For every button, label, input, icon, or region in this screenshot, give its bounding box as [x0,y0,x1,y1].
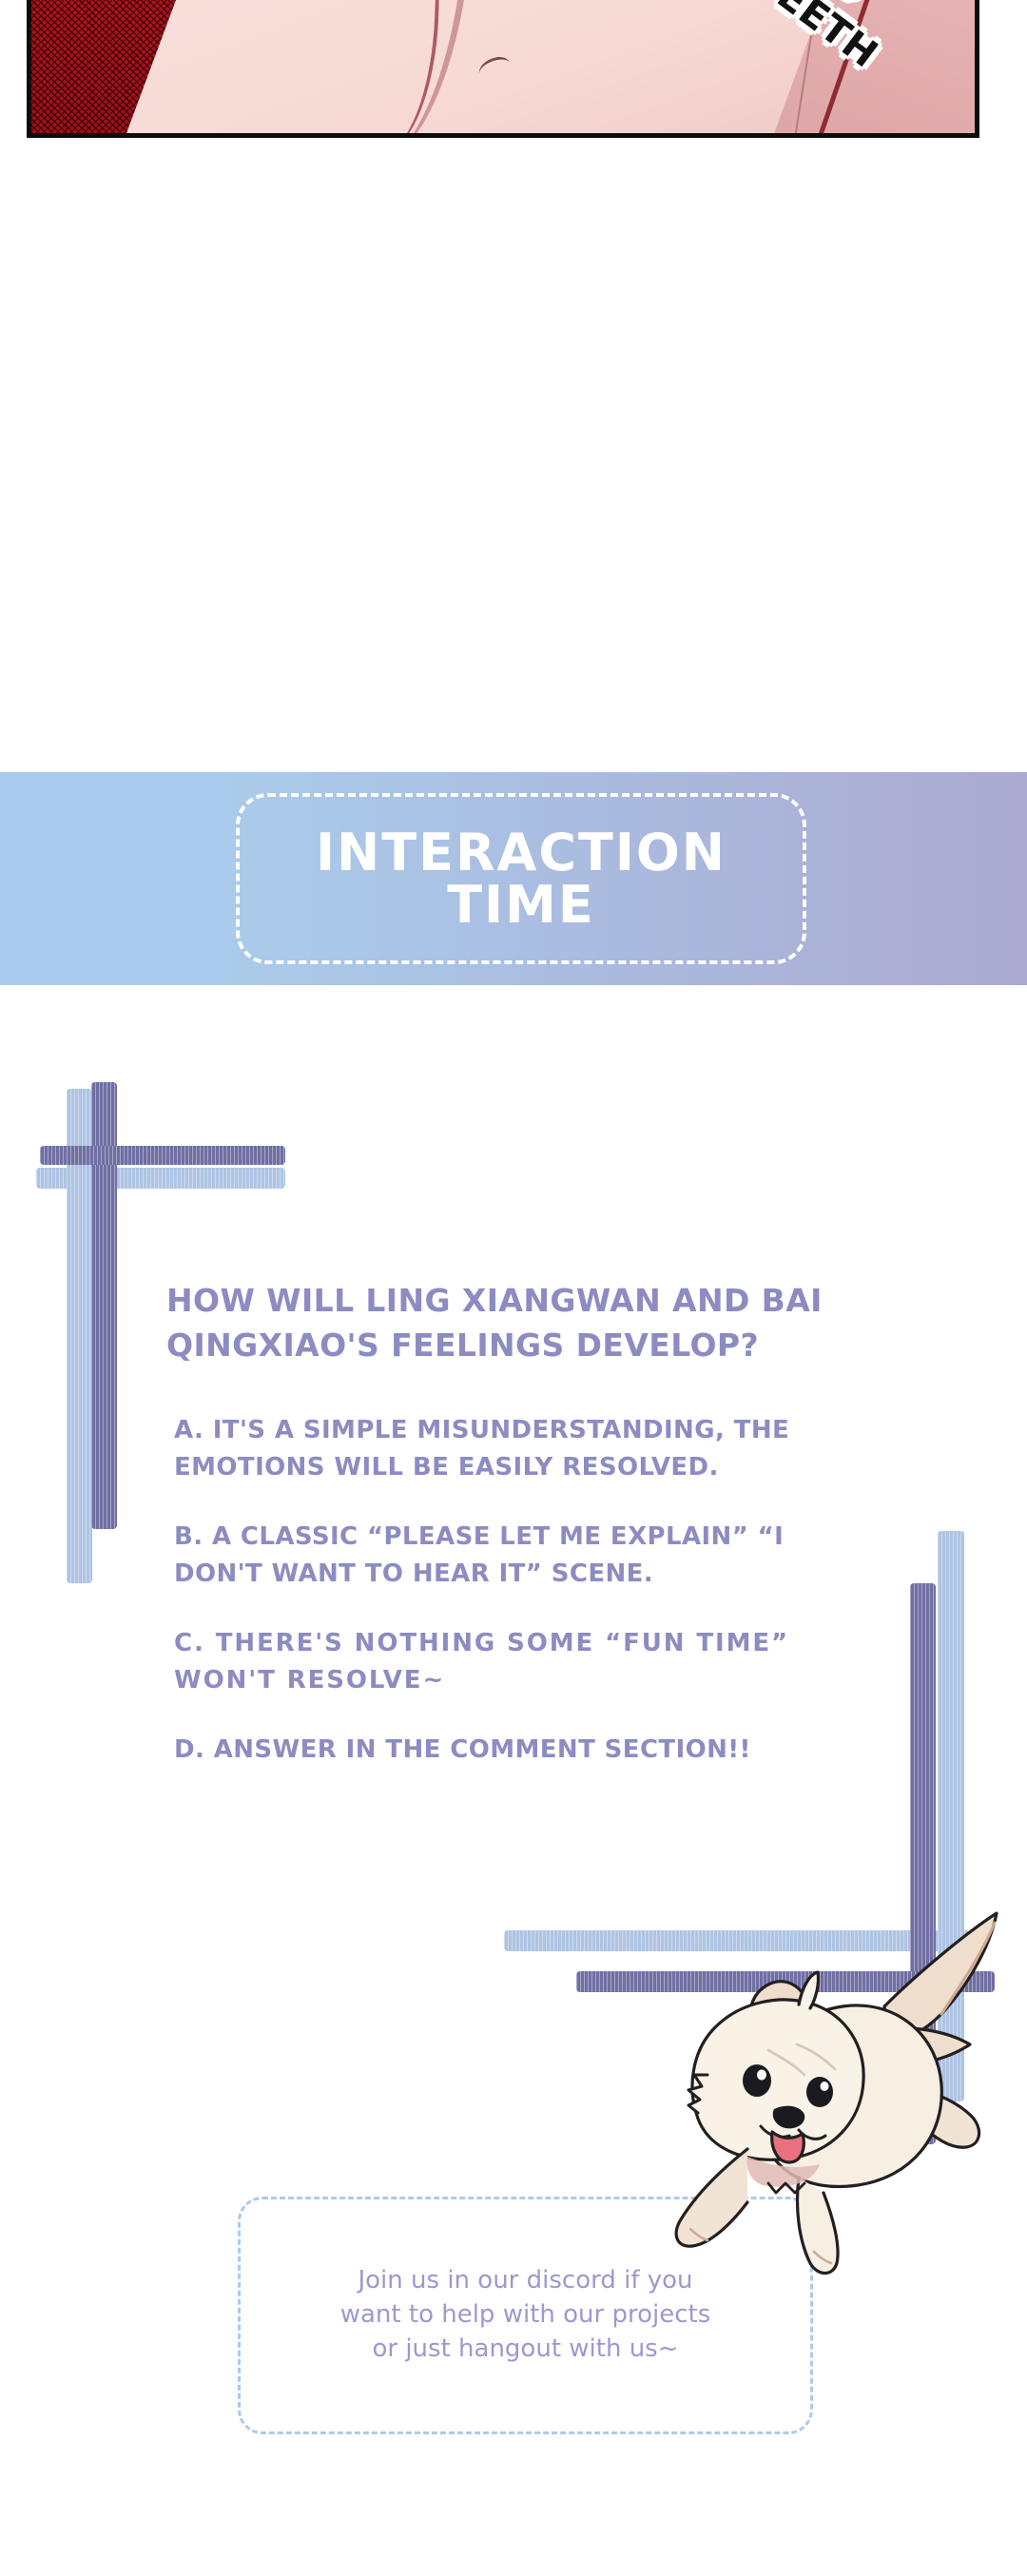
banner-dashed-frame: INTERACTION TIME [236,793,806,964]
brush-stroke-top-left-horizontal-light [36,1168,285,1189]
quiz-block: HOW WILL LING XIANGWAN AND BAI QINGXIAO'… [166,1279,870,1801]
discord-callout-text: Join us in our discord if you want to he… [340,2264,711,2367]
discord-callout-box[interactable]: Join us in our discord if you want to he… [238,2197,813,2434]
quiz-answer-a[interactable]: A. IT'S A SIMPLE MISUNDERSTANDING, THE E… [174,1412,870,1486]
quiz-question: HOW WILL LING XIANGWAN AND BAI QINGXIAO'… [166,1279,870,1368]
quiz-answer-c[interactable]: C. THERE'S NOTHING SOME “FUN TIME” WON'T… [174,1625,870,1699]
brush-stroke-bottom-right-vertical-dark [910,1583,936,2144]
banner-title: INTERACTION TIME [316,826,727,931]
brush-stroke-bottom-right-horizontal-dark [576,1971,995,1992]
quiz-answer-d[interactable]: D. ANSWER IN THE COMMENT SECTION!! [174,1732,870,1769]
quiz-answer-b[interactable]: B. A CLASSIC “PLEASE LET ME EXPLAIN” “I … [174,1519,870,1593]
brush-stroke-bottom-right-horizontal-light [504,1930,970,1951]
interaction-time-banner: INTERACTION TIME [0,772,1027,985]
brush-stroke-top-left-horizontal-dark [40,1146,285,1165]
brush-stroke-bottom-right-vertical-light [938,1531,964,2101]
comic-panel: RITS TEETH [27,0,979,138]
quiz-answer-list: A. IT'S A SIMPLE MISUNDERSTANDING, THE E… [166,1412,870,1769]
